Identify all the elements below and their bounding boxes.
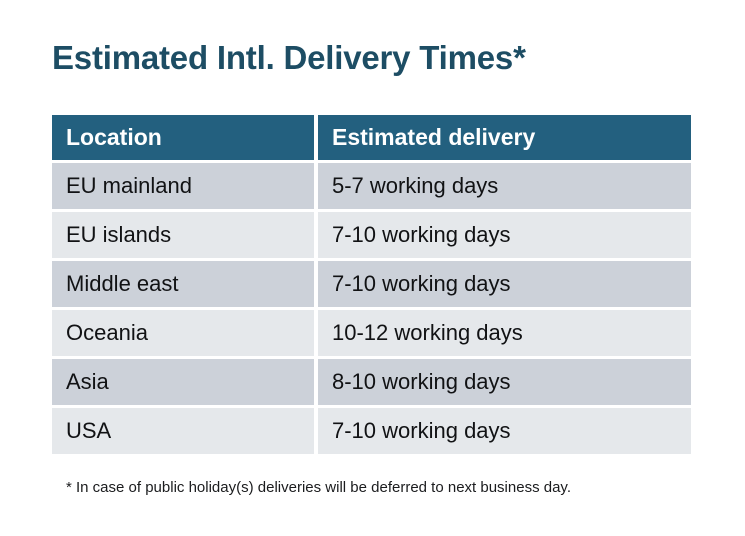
cell-location: EU mainland — [52, 163, 314, 209]
cell-delivery: 8-10 working days — [318, 359, 691, 405]
table-row: USA 7-10 working days — [52, 408, 691, 454]
table-row: Asia 8-10 working days — [52, 359, 691, 405]
cell-delivery: 5-7 working days — [318, 163, 691, 209]
cell-location: Oceania — [52, 310, 314, 356]
table-row: EU mainland 5-7 working days — [52, 163, 691, 209]
cell-location: Middle east — [52, 261, 314, 307]
column-header-location: Location — [52, 115, 314, 160]
column-header-estimated-delivery: Estimated delivery — [318, 115, 691, 160]
cell-delivery: 7-10 working days — [318, 408, 691, 454]
footnote: * In case of public holiday(s) deliverie… — [66, 478, 571, 498]
table-header-row: Location Estimated delivery — [52, 115, 691, 160]
table-row: Middle east 7-10 working days — [52, 261, 691, 307]
cell-delivery: 10-12 working days — [318, 310, 691, 356]
table-row: Oceania 10-12 working days — [52, 310, 691, 356]
cell-delivery: 7-10 working days — [318, 261, 691, 307]
page-title: Estimated Intl. Delivery Times* — [52, 38, 526, 78]
cell-location: EU islands — [52, 212, 314, 258]
cell-delivery: 7-10 working days — [318, 212, 691, 258]
table-row: EU islands 7-10 working days — [52, 212, 691, 258]
cell-location: Asia — [52, 359, 314, 405]
delivery-times-page: Estimated Intl. Delivery Times* Location… — [0, 0, 745, 536]
delivery-times-table: Location Estimated delivery EU mainland … — [52, 115, 691, 454]
cell-location: USA — [52, 408, 314, 454]
